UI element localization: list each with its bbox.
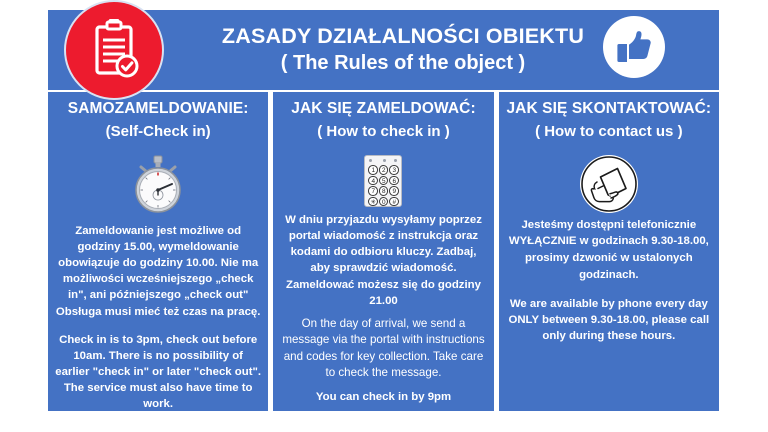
phone-icon-circle xyxy=(580,155,638,213)
body-text-pl: W dniu przyjazdu wysyłamy poprzez portal… xyxy=(280,212,486,309)
page-title-pl: ZASADY DZIAŁALNOŚCI OBIEKTU xyxy=(222,24,584,49)
keypad-key: # xyxy=(389,197,399,207)
body-text-en: Check in is to 3pm, check out before 10a… xyxy=(55,332,261,411)
keypad-key: 8 xyxy=(379,186,389,196)
keypad-key: 9 xyxy=(389,186,399,196)
column-heading-pl: JAK SIĘ SKONTAKTOWAĆ: xyxy=(506,100,712,119)
keypad-key: 7 xyxy=(368,186,378,196)
keypad-key: 3 xyxy=(389,165,399,175)
body-text-pl: Jesteśmy dostępni telefonicznie WYŁĄCZNI… xyxy=(506,217,712,285)
body-text-en-bold: You can check in by 9pm xyxy=(280,389,486,405)
hand-holding-phone-icon xyxy=(580,153,638,215)
keypad-key: 1 xyxy=(368,165,378,175)
column-heading: JAK SIĘ SKONTAKTOWAĆ: ( How to contact u… xyxy=(506,100,712,141)
columns-container: SAMOZAMELDOWANIE: (Self-Check in) xyxy=(48,92,719,411)
column-how-to-contact-us: JAK SIĘ SKONTAKTOWAĆ: ( How to contact u… xyxy=(499,92,719,411)
column-heading-en: (Self-Check in) xyxy=(55,123,261,141)
column-how-to-check-in: JAK SIĘ ZAMELDOWAĆ: ( How to check in ) … xyxy=(273,92,493,411)
keypad-dot xyxy=(383,159,386,162)
keypad-body: 1 2 3 4 5 6 7 8 9 ✳ 0 # xyxy=(364,155,402,207)
text-spacer xyxy=(506,284,712,296)
column-heading-pl: JAK SIĘ ZAMELDOWAĆ: xyxy=(280,100,486,119)
keypad-key: 5 xyxy=(379,176,389,186)
column-heading: JAK SIĘ ZAMELDOWAĆ: ( How to check in ) xyxy=(280,100,486,141)
column-body: W dniu przyjazdu wysyłamy poprzez portal… xyxy=(280,212,486,405)
text-spacer xyxy=(55,320,261,332)
body-text-en: On the day of arrival, we send a message… xyxy=(280,316,486,382)
thumbs-up-icon xyxy=(603,16,665,78)
column-heading-en: ( How to contact us ) xyxy=(506,123,712,141)
text-spacer xyxy=(280,309,486,316)
rules-poster: ZASADY DZIAŁALNOŚCI OBIEKTU ( The Rules … xyxy=(0,0,768,432)
keypad-key: 2 xyxy=(379,165,389,175)
column-heading-pl: SAMOZAMELDOWANIE: xyxy=(55,100,261,119)
column-heading: SAMOZAMELDOWANIE: (Self-Check in) xyxy=(55,100,261,141)
keypad-key: 0 xyxy=(379,197,389,207)
keypad-key: ✳ xyxy=(368,197,378,207)
keypad-grid: 1 2 3 4 5 6 7 8 9 ✳ 0 # xyxy=(368,165,398,206)
body-text-en: We are available by phone every day ONLY… xyxy=(506,296,712,345)
column-body: Jesteśmy dostępni telefonicznie WYŁĄCZNI… xyxy=(506,217,712,345)
text-spacer xyxy=(280,382,486,389)
stopwatch-icon xyxy=(131,155,185,215)
keypad-dot xyxy=(369,159,372,162)
clipboard-check-icon xyxy=(64,0,164,100)
page-title-en: ( The Rules of the object ) xyxy=(281,52,525,76)
header-title-group: ZASADY DZIAŁALNOŚCI OBIEKTU ( The Rules … xyxy=(168,10,638,90)
keypad-key: 4 xyxy=(368,176,378,186)
column-self-check-in: SAMOZAMELDOWANIE: (Self-Check in) xyxy=(48,92,268,411)
column-body: Zameldowanie jest możliwe od godziny 15.… xyxy=(55,217,261,411)
column-heading-en: ( How to check in ) xyxy=(280,123,486,141)
keypad-key: 6 xyxy=(389,176,399,186)
keypad-icon: 1 2 3 4 5 6 7 8 9 ✳ 0 # xyxy=(364,153,402,210)
keypad-dot xyxy=(394,159,397,162)
body-text-pl: Zameldowanie jest możliwe od godziny 15.… xyxy=(55,223,261,320)
